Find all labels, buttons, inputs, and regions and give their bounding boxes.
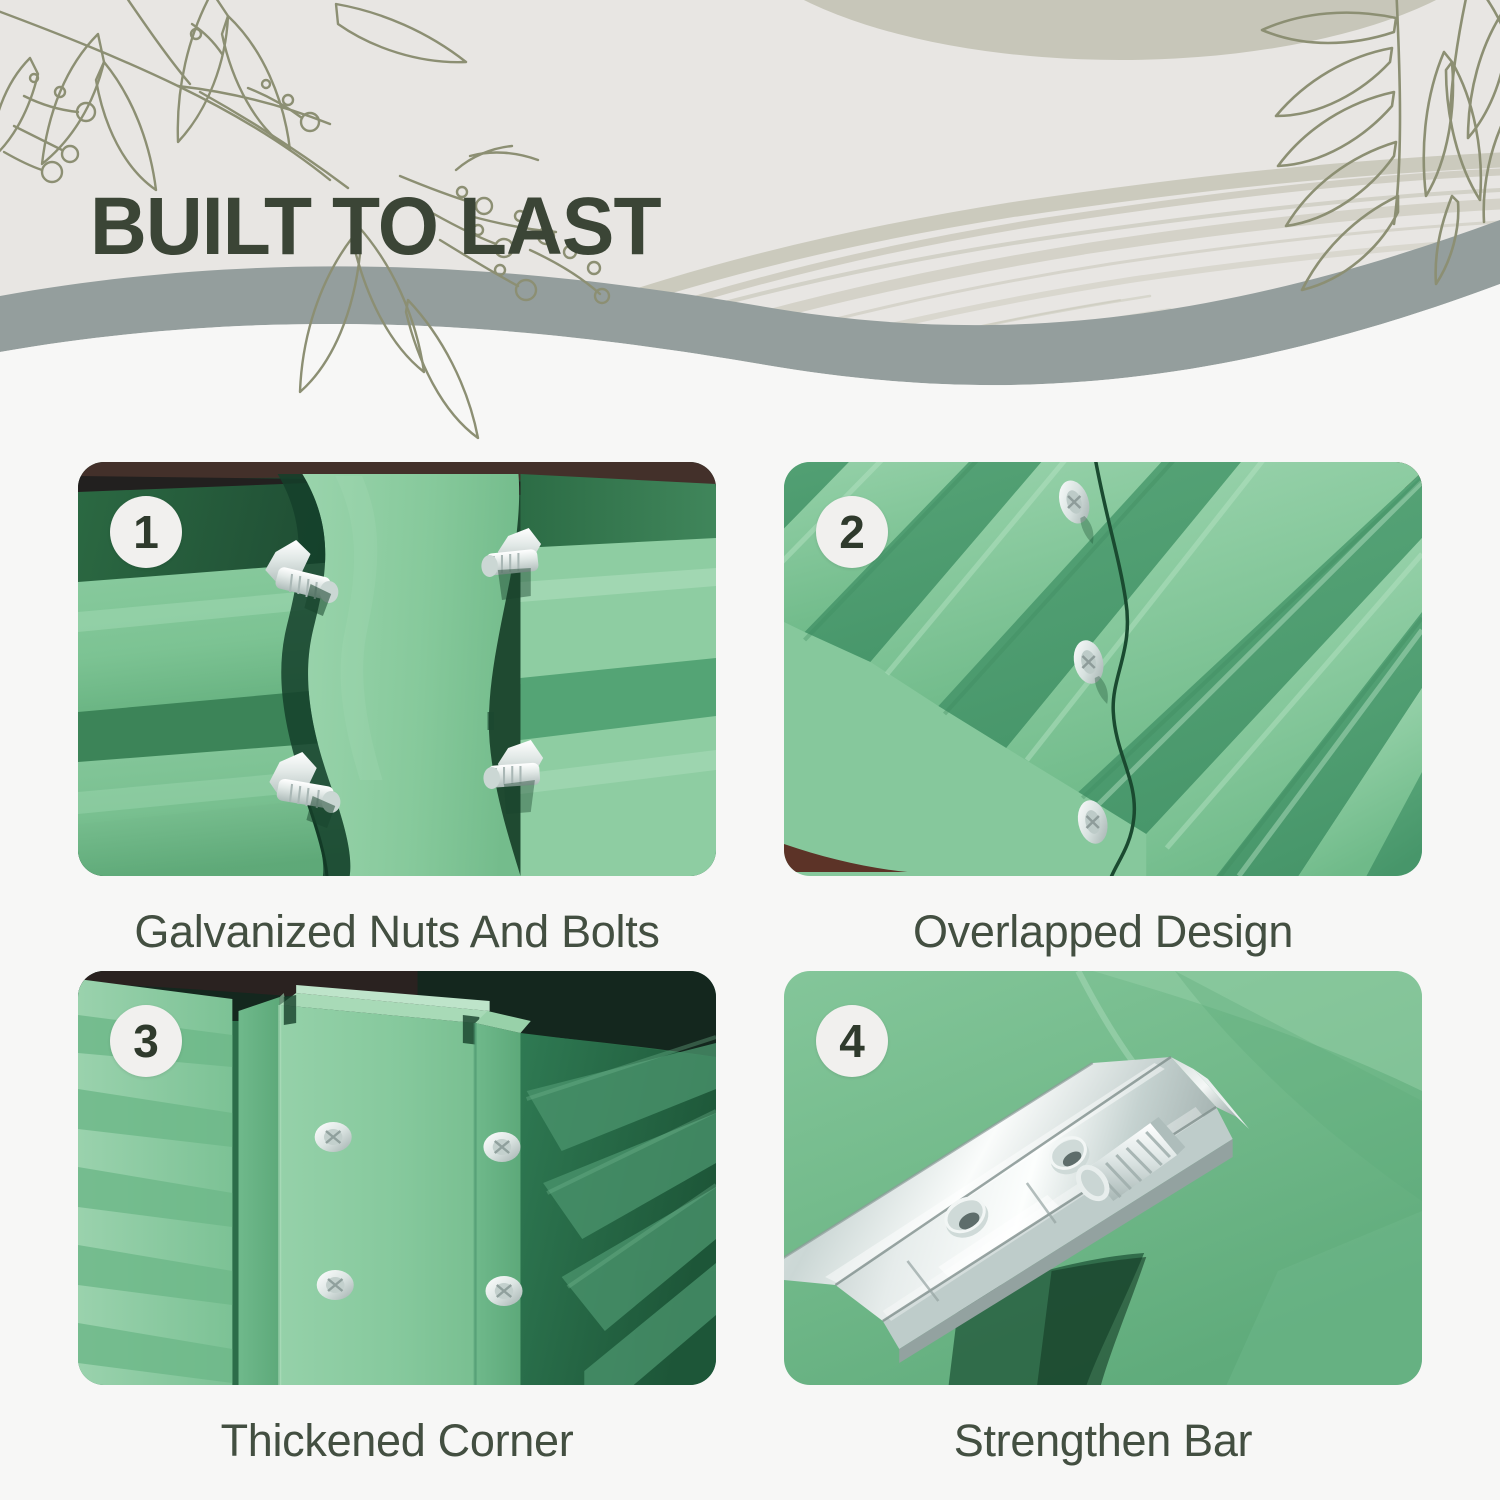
screw-lower-right — [485, 1276, 522, 1306]
photo-thickened-corner: 3 — [78, 971, 716, 1385]
header-banner: BUILT TO LAST — [0, 0, 1500, 440]
feature-number-badge: 4 — [816, 1005, 888, 1077]
feature-caption: Galvanized Nuts And Bolts — [134, 906, 659, 958]
photo-overlapped-design: 2 — [784, 462, 1422, 876]
feature-card-1: 1 Galvanized Nuts And Bolts — [78, 462, 716, 963]
feature-card-2: 2 Overlapped Design — [784, 462, 1422, 963]
photo-galvanized-nuts-and-bolts: 1 — [78, 462, 716, 876]
page-title: BUILT TO LAST — [90, 186, 661, 268]
photo-strengthen-bar: 4 — [784, 971, 1422, 1385]
screw-upper-left — [315, 1122, 352, 1152]
feature-caption: Thickened Corner — [221, 1415, 574, 1467]
feature-number-badge: 1 — [110, 496, 182, 568]
feature-number-badge: 2 — [816, 496, 888, 568]
feature-card-4: 4 Strengthen Bar — [784, 971, 1422, 1472]
feature-caption: Strengthen Bar — [954, 1415, 1253, 1467]
screw-upper-right — [483, 1132, 520, 1162]
feature-card-3: 3 Thickened Corner — [78, 971, 716, 1472]
screw-lower-left — [317, 1270, 354, 1300]
feature-grid: 1 Galvanized Nuts And Bolts — [0, 440, 1500, 1500]
feature-number-badge: 3 — [110, 1005, 182, 1077]
feature-caption: Overlapped Design — [913, 906, 1293, 958]
